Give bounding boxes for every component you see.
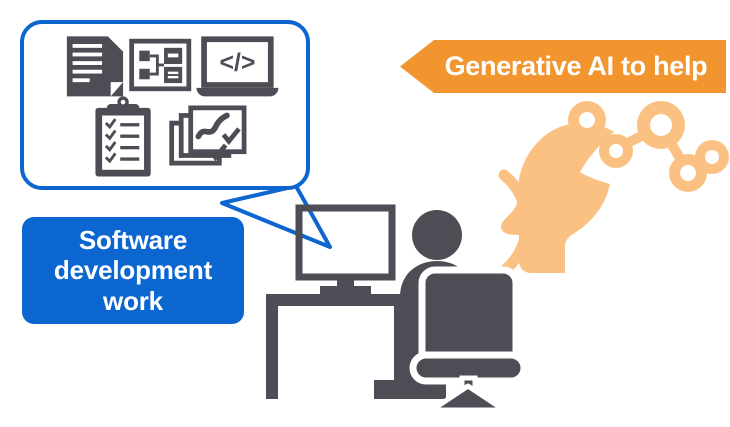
developer-at-desk-illustration bbox=[0, 0, 730, 427]
illustration-canvas: </> bbox=[0, 0, 730, 427]
monitor-icon bbox=[299, 208, 392, 294]
